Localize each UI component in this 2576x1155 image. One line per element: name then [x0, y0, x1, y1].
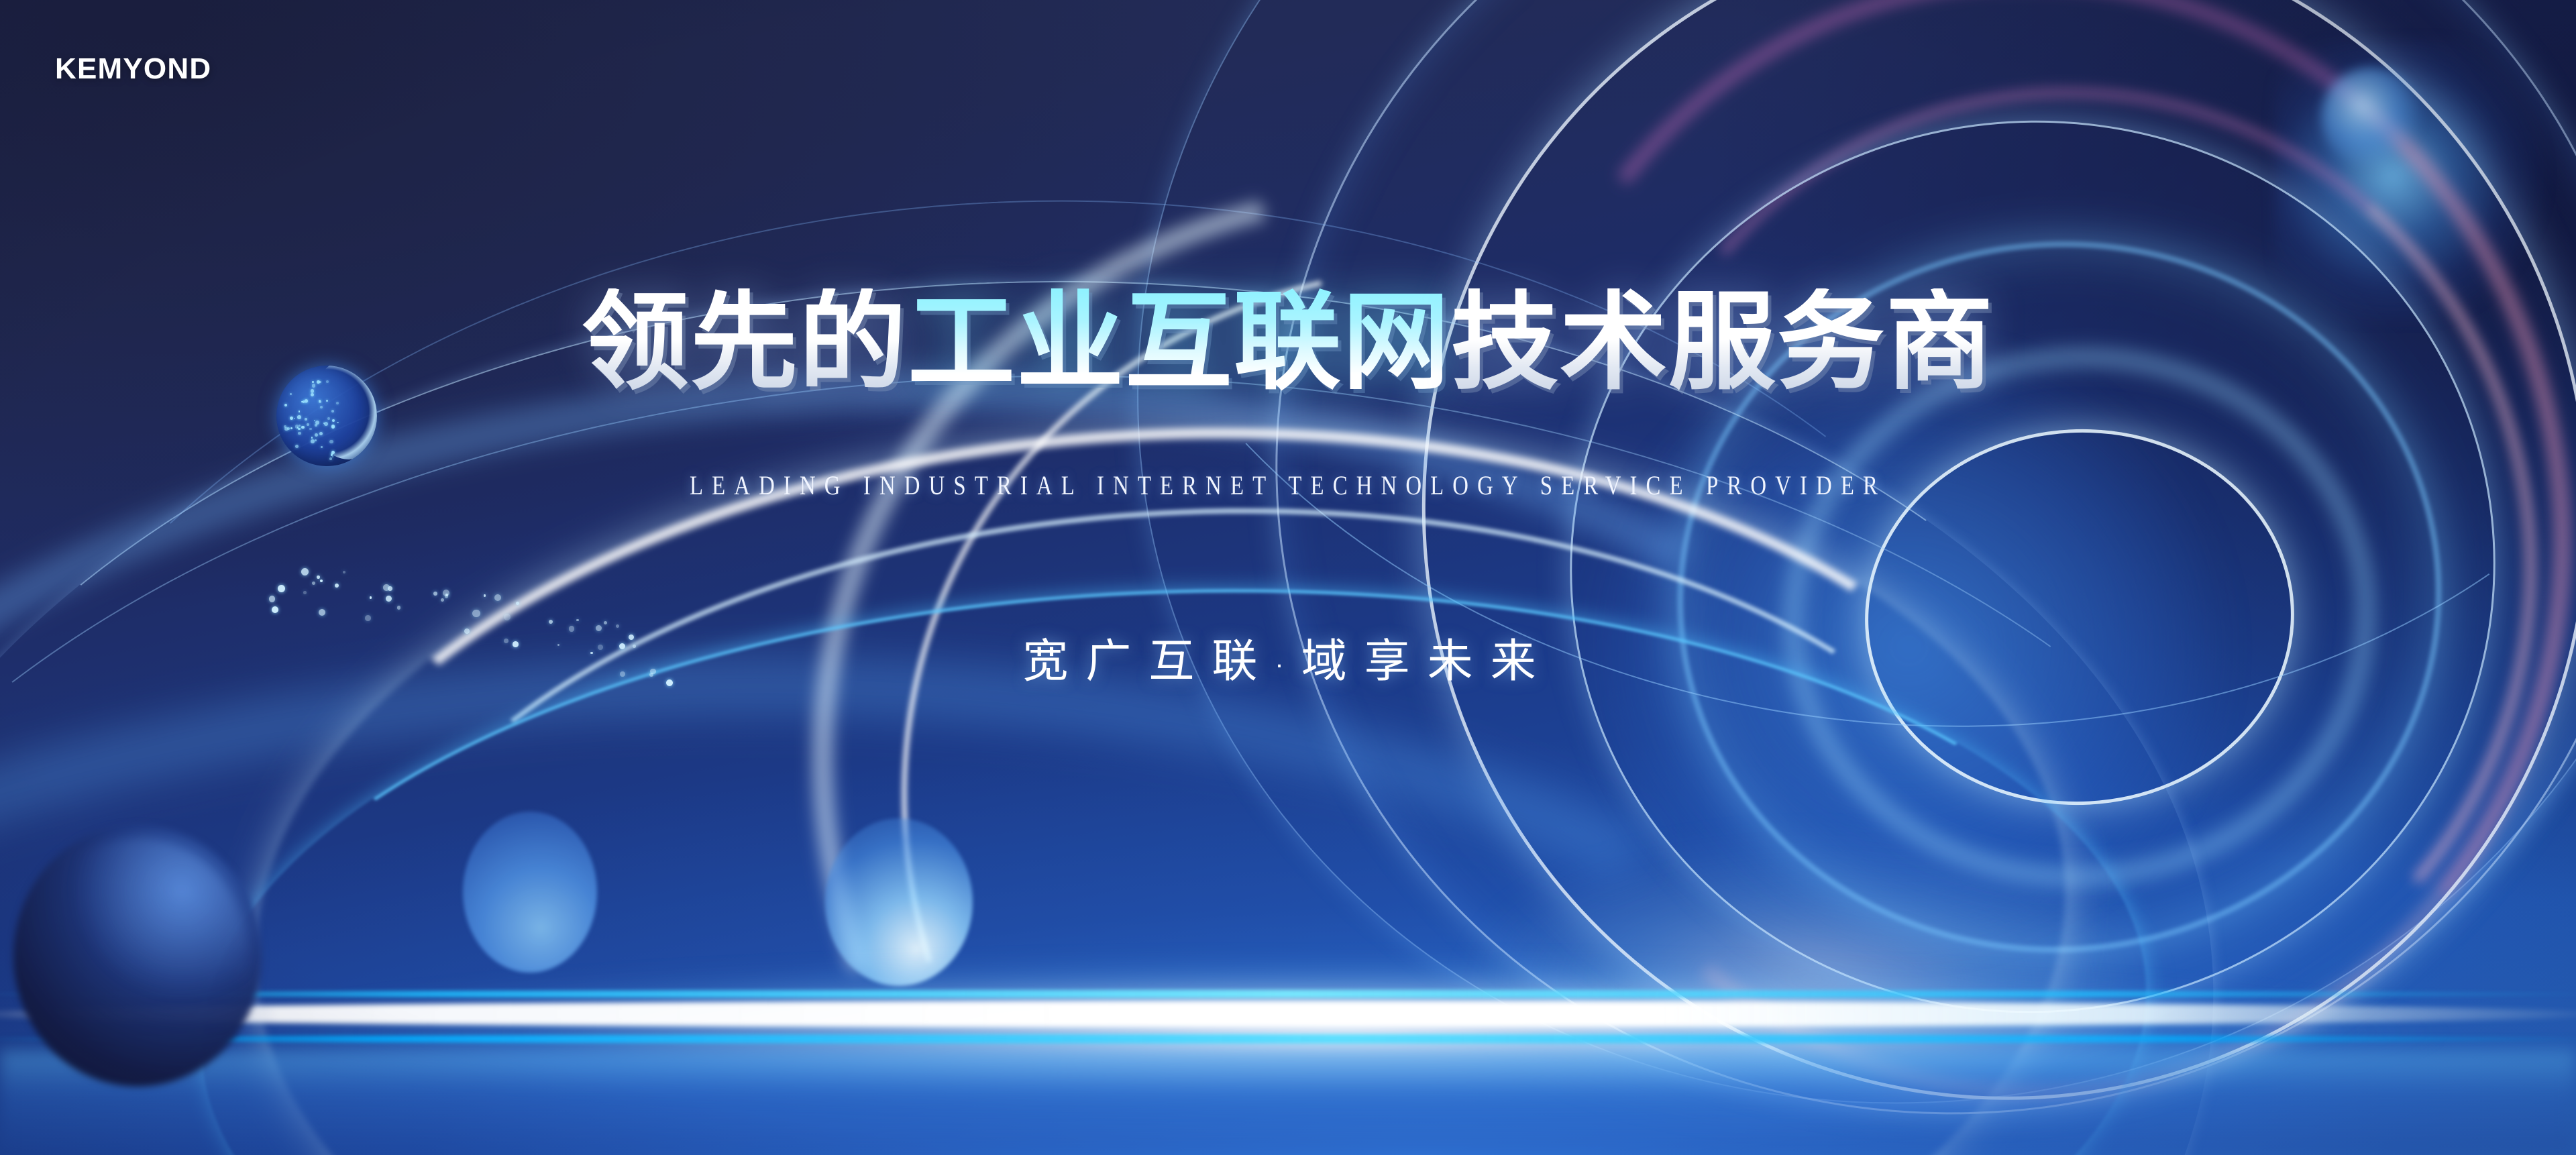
page-subtitle: LEADING INDUSTRIAL INTERNET TECHNOLOGY S…: [232, 470, 2345, 501]
headline-segment-2: 工业互联网: [908, 288, 1451, 396]
vignette-overlay: [0, 0, 2576, 1155]
banner-canvas: KEMYOND 领先的工业互联网技术服务商 LEADING INDUSTRIAL…: [0, 0, 2576, 1155]
tagline-right: 域享未来: [1301, 636, 1554, 687]
tagline-left: 宽广互联: [1022, 636, 1275, 687]
page-title: 领先的工业互联网技术服务商: [0, 288, 2576, 396]
tagline-separator: ·: [1275, 650, 1301, 679]
headline-segment-1: 领先的: [582, 288, 908, 396]
headline-segment-3: 技术服务商: [1451, 288, 1994, 396]
brand-logo[interactable]: KEMYOND: [55, 52, 211, 86]
page-tagline: 宽广互联·域享未来: [0, 624, 2576, 690]
